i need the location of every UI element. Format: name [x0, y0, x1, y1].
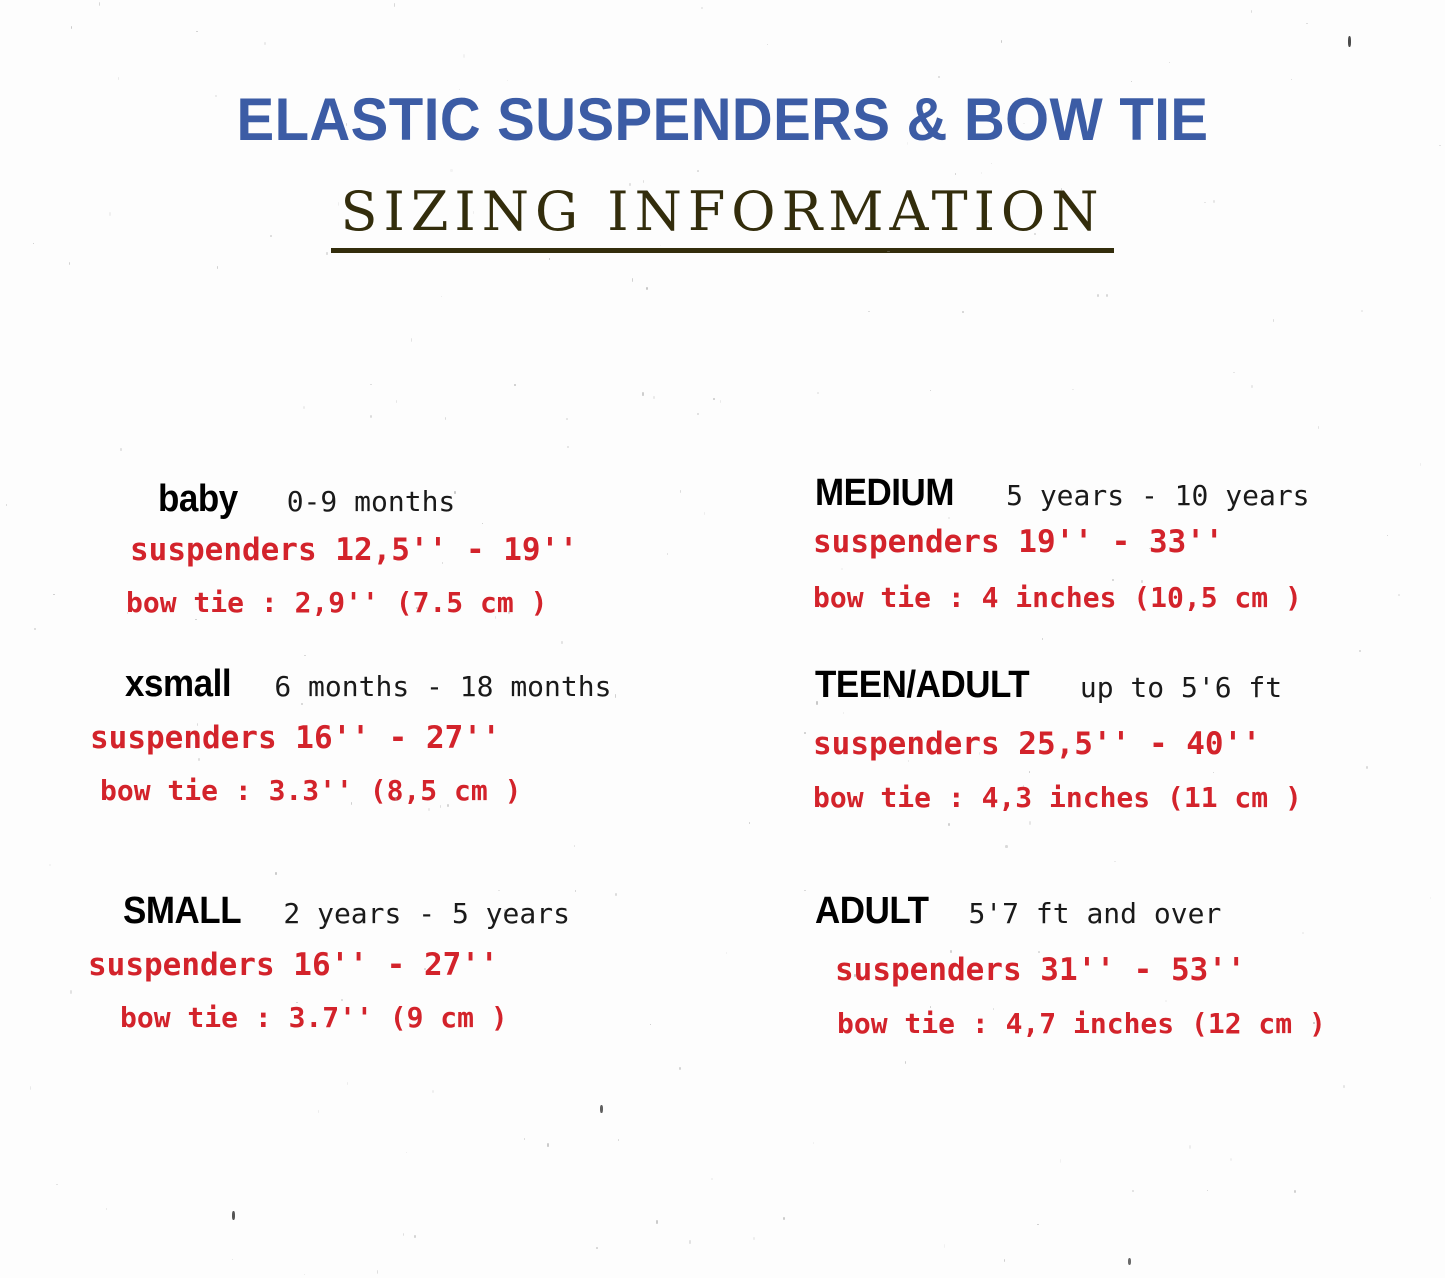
page-subtitle-wrapper: SIZING INFORMATION — [0, 183, 1445, 253]
suspenders-measurement: suspenders 25,5'' - 40'' — [725, 729, 1445, 760]
size-age-range: 2 years - 5 years — [283, 900, 570, 928]
size-header: TEEN/ADULT up to 5'6 ft — [725, 666, 1445, 704]
size-block-baby: baby 0-9 months suspenders 12,5'' - 19''… — [0, 480, 720, 617]
page-subtitle: SIZING INFORMATION — [331, 183, 1115, 253]
size-header: MEDIUM 5 years - 10 years — [725, 474, 1445, 512]
size-label: SMALL — [123, 892, 241, 930]
size-age-range: 0-9 months — [287, 488, 456, 516]
size-age-range: 5'7 ft and over — [968, 900, 1221, 928]
size-header: SMALL 2 years - 5 years — [0, 892, 720, 930]
size-block-teen-adult: TEEN/ADULT up to 5'6 ft suspenders 25,5'… — [725, 666, 1445, 812]
bow-tie-measurement: bow tie : 4,7 inches (12 cm ) — [725, 1010, 1445, 1038]
suspenders-measurement: suspenders 19'' - 33'' — [725, 527, 1445, 558]
size-header: ADULT 5'7 ft and over — [725, 892, 1445, 930]
suspenders-measurement: suspenders 16'' - 27'' — [0, 723, 720, 754]
size-block-small: SMALL 2 years - 5 years suspenders 16'' … — [0, 892, 720, 1032]
size-age-range: 6 months - 18 months — [274, 673, 611, 701]
size-header: baby 0-9 months — [0, 480, 720, 518]
bow-tie-measurement: bow tie : 4,3 inches (11 cm ) — [725, 784, 1445, 812]
size-label: ADULT — [815, 892, 929, 930]
bow-tie-measurement: bow tie : 2,9'' (7.5 cm ) — [0, 589, 720, 617]
size-label: TEEN/ADULT — [815, 666, 1029, 704]
size-age-range: up to 5'6 ft — [1080, 674, 1282, 702]
size-header: xsmall 6 months - 18 months — [0, 665, 720, 703]
suspenders-measurement: suspenders 12,5'' - 19'' — [0, 535, 720, 566]
size-age-range: 5 years - 10 years — [1006, 482, 1309, 510]
sizing-chart-page: ELASTIC SUSPENDERS & BOW TIE SIZING INFO… — [0, 0, 1445, 1278]
bow-tie-measurement: bow tie : 4 inches (10,5 cm ) — [725, 584, 1445, 612]
size-label: baby — [158, 480, 238, 518]
size-block-adult: ADULT 5'7 ft and over suspenders 31'' - … — [725, 892, 1445, 1038]
size-block-xsmall: xsmall 6 months - 18 months suspenders 1… — [0, 665, 720, 805]
page-title: ELASTIC SUSPENDERS & BOW TIE — [43, 88, 1401, 151]
bow-tie-measurement: bow tie : 3.3'' (8,5 cm ) — [0, 777, 720, 805]
size-label: MEDIUM — [815, 474, 954, 512]
size-label: xsmall — [125, 665, 231, 703]
suspenders-measurement: suspenders 16'' - 27'' — [0, 950, 720, 981]
suspenders-measurement: suspenders 31'' - 53'' — [725, 955, 1445, 986]
size-block-medium: MEDIUM 5 years - 10 years suspenders 19'… — [725, 474, 1445, 612]
bow-tie-measurement: bow tie : 3.7'' (9 cm ) — [0, 1004, 720, 1032]
